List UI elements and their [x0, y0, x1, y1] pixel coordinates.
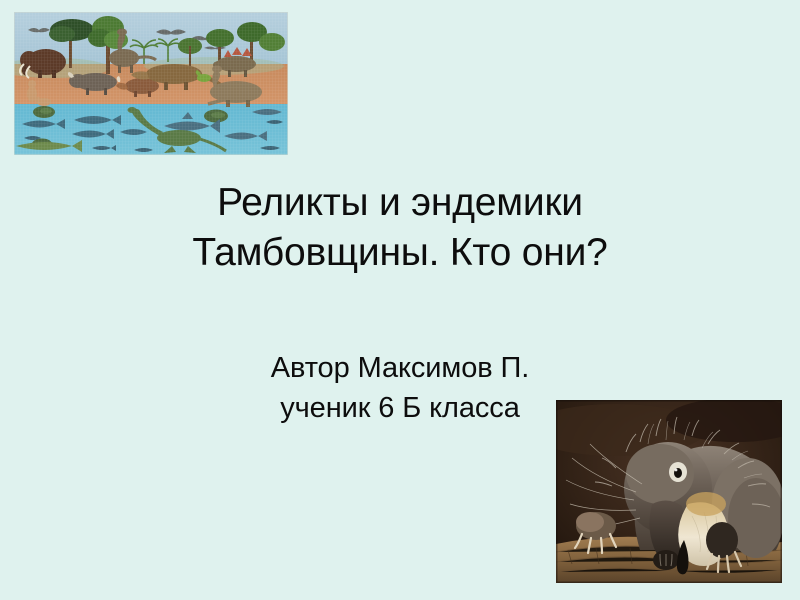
desman-photo — [556, 400, 782, 583]
prehistoric-scene-image — [14, 12, 288, 155]
slide-title: Реликты и эндемики Тамбовщины. Кто они? — [60, 178, 740, 278]
prehistoric-scene-svg — [14, 12, 288, 155]
presentation-slide: Реликты и эндемики Тамбовщины. Кто они? … — [0, 0, 800, 600]
desman-photo-svg — [556, 400, 782, 583]
